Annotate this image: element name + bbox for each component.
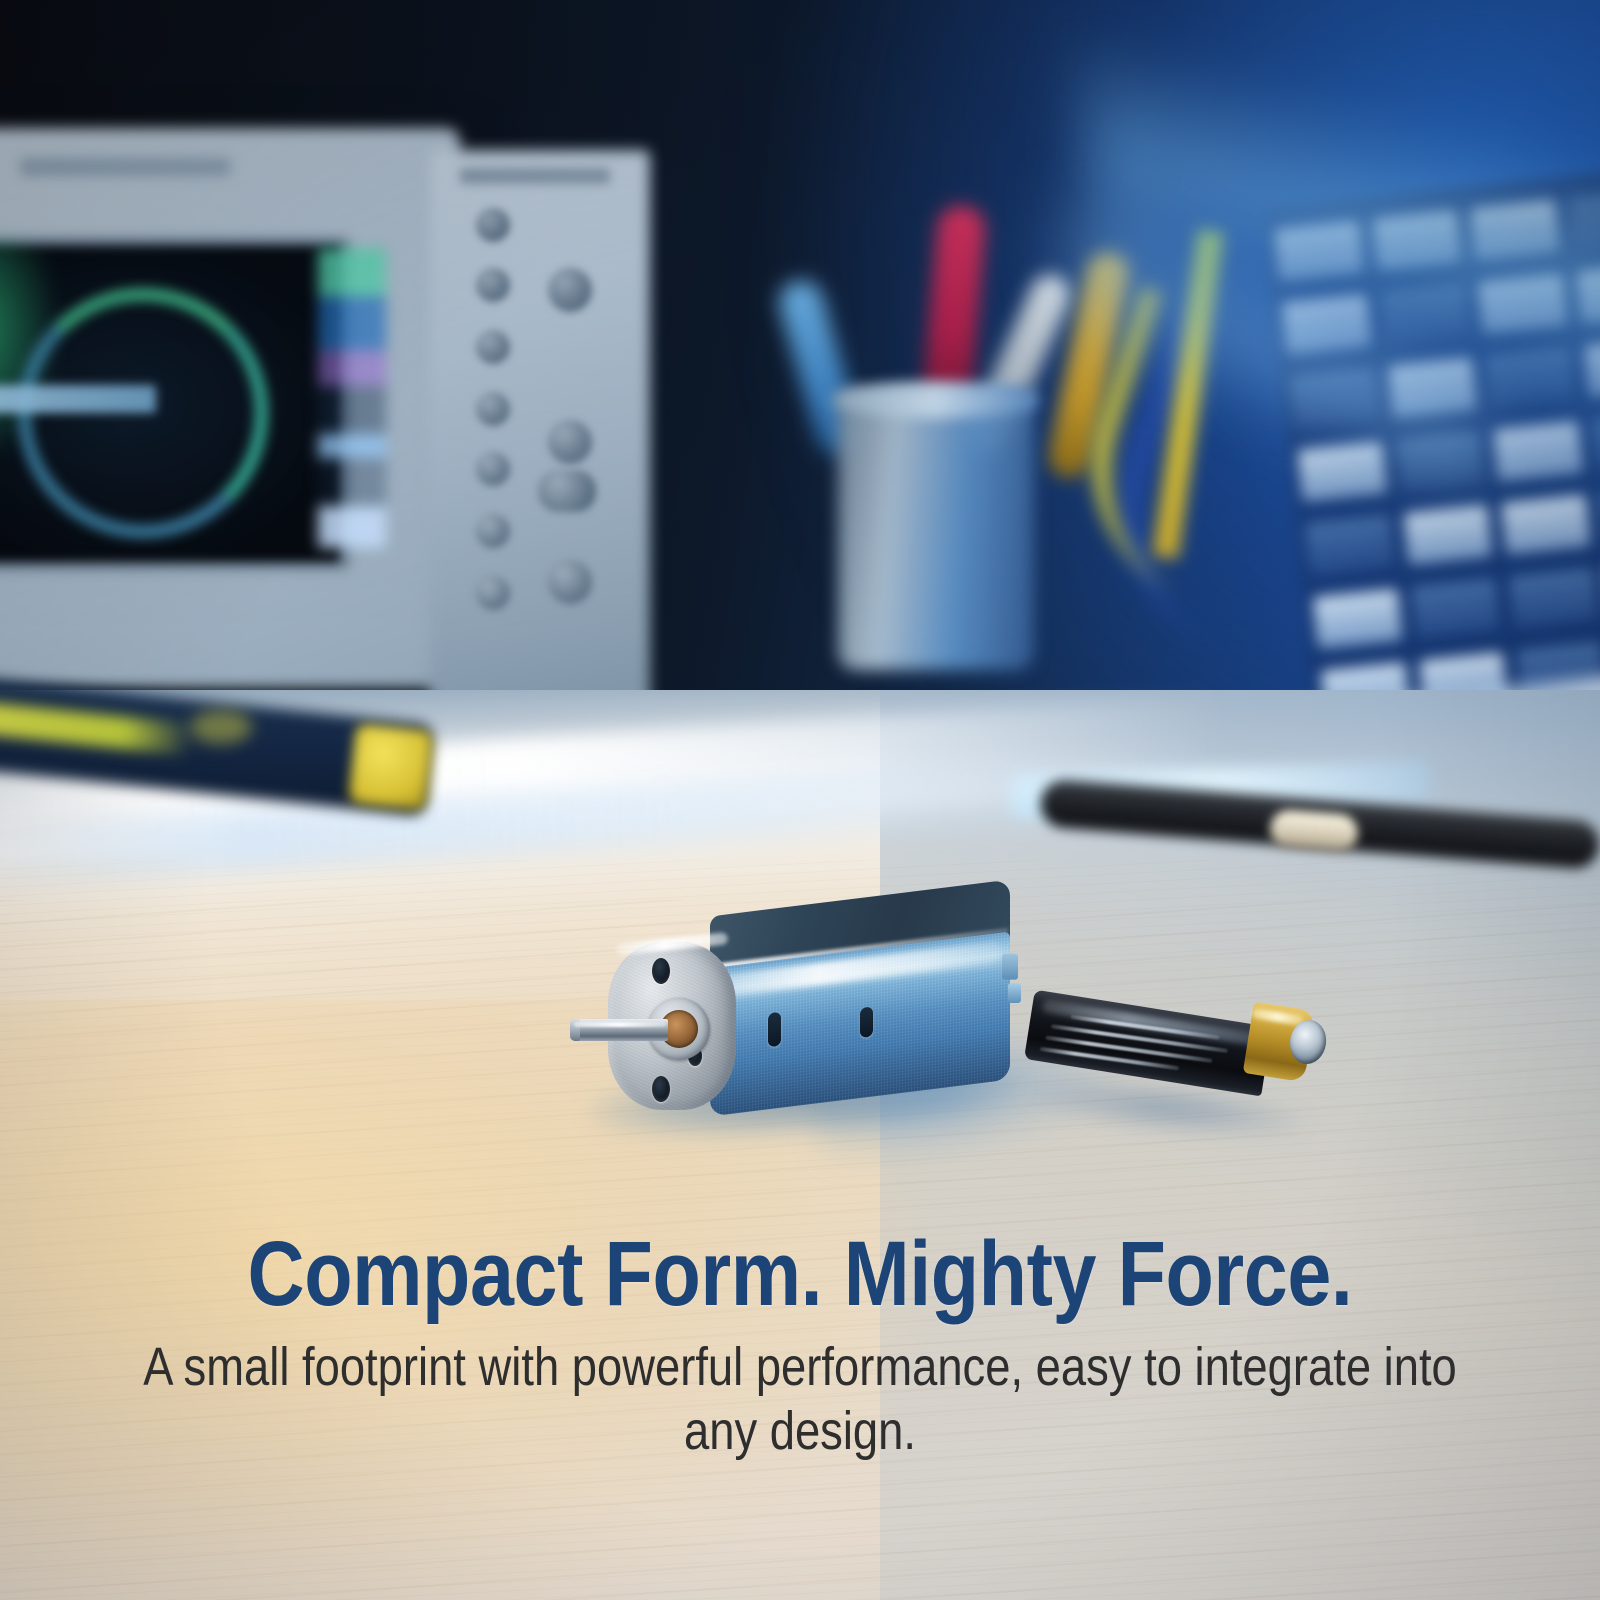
dc-micro-motor: [560, 880, 1040, 1160]
motor-can: [710, 880, 1010, 1117]
marketing-copy: Compact Form. Mighty Force. A small foot…: [0, 1228, 1600, 1463]
oscilloscope-trace: [18, 288, 268, 538]
aa-battery: [1000, 980, 1330, 1150]
motor-mounting-hole: [652, 1076, 670, 1102]
motor-mounting-hole: [652, 958, 670, 984]
promo-hero-image: Compact Form. Mighty Force. A small foot…: [0, 0, 1600, 1600]
light-beam-secondary: [1060, 60, 1480, 620]
page-subtitle: A small footprint with powerful performa…: [128, 1336, 1472, 1463]
page-title: Compact Form. Mighty Force.: [112, 1228, 1488, 1320]
